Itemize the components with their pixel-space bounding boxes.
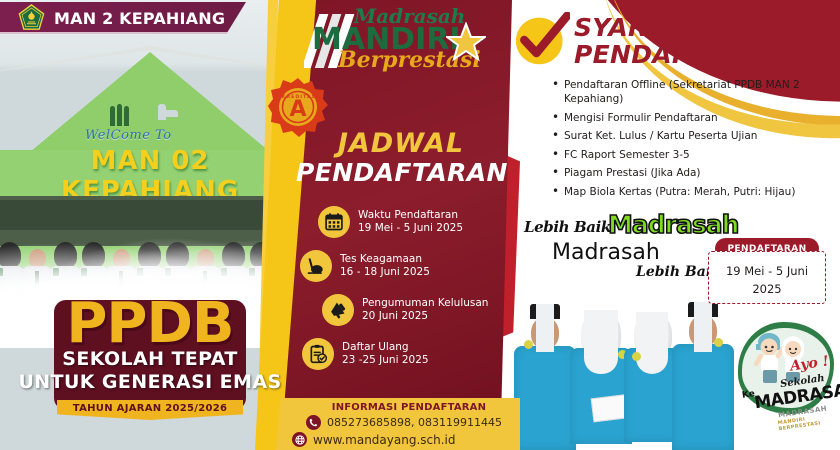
ppdb-poster: WelCome To MAN 02 KEPAHIANG MAN 2 KEPAHI… xyxy=(0,0,840,450)
requirements-panel: SYARAT PENDAFTARAN Pendaftaran Offline (… xyxy=(500,0,840,450)
svg-text:A: A xyxy=(289,97,306,122)
schedule-item-3: Daftar Ulang 23 -25 Juni 2025 xyxy=(302,332,512,376)
megaphone-icon xyxy=(322,294,354,326)
requirement-item: Map Biola Kertas (Putra: Merah, Putri: H… xyxy=(552,185,818,199)
schedule-item-0: Waktu Pendaftaran 19 Mei - 5 Juni 2025 xyxy=(318,200,512,244)
roof-ornament-icon xyxy=(110,104,180,126)
requirements-heading-line2: PENDAFTARAN xyxy=(574,41,785,68)
badge-label: PENDAFTARAN xyxy=(727,244,806,254)
requirement-item: FC Raport Semester 3-5 xyxy=(552,148,818,162)
accreditation-seal-icon: A AKREDITASI xyxy=(268,78,328,138)
header-title: MAN 2 KEPAHIANG xyxy=(54,9,225,28)
requirement-item: Piagam Prestasi (Jika Ada) xyxy=(552,166,818,180)
schedule-item-date: 23 -25 Juni 2025 xyxy=(342,354,429,367)
info-title: INFORMASI PENDAFTARAN xyxy=(306,402,512,413)
info-phone-row[interactable]: 085273685898, 083119911445 xyxy=(306,415,512,430)
ppdb-headline-block: PPDB SEKOLAH TEPAT UNTUK GENERASI EMAS T… xyxy=(12,296,288,420)
globe-icon xyxy=(292,432,307,447)
slogan-block: Lebih Baik Madrasah Madrasah Lebih Baik xyxy=(524,212,724,284)
bedug-drum-icon xyxy=(300,250,332,282)
schedule-item-text: Tes Keagamaan 16 - 18 Juni 2025 xyxy=(340,253,430,279)
phone-icon xyxy=(306,415,321,430)
schedule-item-text: Pengumuman Kelulusan 20 Juni 2025 xyxy=(362,297,488,323)
ppdb-subtitle-1: SEKOLAH TEPAT xyxy=(12,348,288,370)
student-male-right xyxy=(672,302,734,450)
schedule-item-label: Pengumuman Kelulusan xyxy=(362,297,488,310)
building-shadow xyxy=(0,200,300,230)
svg-text:AKREDITASI: AKREDITASI xyxy=(277,94,319,100)
registration-info-block: INFORMASI PENDAFTARAN 085273685898, 0831… xyxy=(292,402,512,447)
madrasah-mandiri-logo: Madrasah MANDIRI Berprestasi xyxy=(296,4,506,76)
welcome-text: WelCome To xyxy=(85,128,172,143)
calendar-icon xyxy=(318,206,350,238)
ppdb-year-text: TAHUN AJARAN 2025/2026 xyxy=(73,403,228,414)
website-url: www.mandayang.sch.id xyxy=(313,433,456,447)
schedule-item-1: Tes Keagamaan 16 - 18 Juni 2025 xyxy=(300,244,512,288)
clipboard-check-icon xyxy=(302,338,334,370)
ppdb-subtitle-2: UNTUK GENERASI EMAS xyxy=(12,371,288,393)
phone-number: 085273685898, 083119911445 xyxy=(327,416,502,429)
requirement-item: Mengisi Formulir Pendaftaran xyxy=(552,111,818,125)
badge-date-box: 19 Mei - 5 Juni 2025 xyxy=(708,251,826,304)
ppdb-year-ribbon: TAHUN AJARAN 2025/2026 xyxy=(57,400,243,420)
requirements-heading: SYARAT PENDAFTARAN xyxy=(574,14,785,68)
schedule-item-date: 16 - 18 Juni 2025 xyxy=(340,266,430,279)
badge-dates: 19 Mei - 5 Juni 2025 xyxy=(726,264,808,296)
slogan-line1-a: Lebih Baik xyxy=(524,218,611,236)
schedule-item-label: Daftar Ulang xyxy=(342,341,429,354)
schedule-item-label: Waktu Pendaftaran xyxy=(358,209,463,222)
schedule-list: Waktu Pendaftaran 19 Mei - 5 Juni 2025 T… xyxy=(300,200,512,376)
slogan-line2-a: Madrasah xyxy=(552,240,660,265)
schedule-item-date: 19 Mei - 5 Juni 2025 xyxy=(358,222,463,235)
schedule-heading-line2: PENDAFTARAN xyxy=(296,158,506,187)
kemenag-logo-icon xyxy=(18,4,45,31)
requirements-heading-line1: SYARAT xyxy=(574,14,785,41)
ppdb-title: PPDB xyxy=(12,296,288,352)
requirement-item: Pendaftaran Offline (Sekretariat PPDB MA… xyxy=(552,78,818,106)
schedule-item-text: Waktu Pendaftaran 19 Mei - 5 Juni 2025 xyxy=(358,209,463,235)
schedule-item-label: Tes Keagamaan xyxy=(340,253,430,266)
slogan-line1-b: Madrasah xyxy=(608,210,738,239)
student-female-1 xyxy=(570,310,632,450)
requirement-item: Surat Ket. Lulus / Kartu Peserta Ujian xyxy=(552,129,818,143)
student-male-left xyxy=(514,304,576,450)
info-website-row[interactable]: www.mandayang.sch.id xyxy=(292,432,512,447)
ayo-ke-madrasah-logo: Ayo ! Sekolah Ke MADRASAH MADRASAH MANDI… xyxy=(732,316,840,444)
students-photo-group xyxy=(508,302,738,450)
schedule-item-2: Pengumuman Kelulusan 20 Juni 2025 xyxy=(322,288,512,332)
registration-date-badge: PENDAFTARAN 19 Mei - 5 Juni 2025 xyxy=(708,238,826,304)
schedule-item-date: 20 Juni 2025 xyxy=(362,310,488,323)
requirements-list: Pendaftaran Offline (Sekretariat PPDB MA… xyxy=(552,78,818,203)
star-icon xyxy=(446,22,486,62)
schedule-item-text: Daftar Ulang 23 -25 Juni 2025 xyxy=(342,341,429,367)
check-mark-icon xyxy=(514,12,570,68)
